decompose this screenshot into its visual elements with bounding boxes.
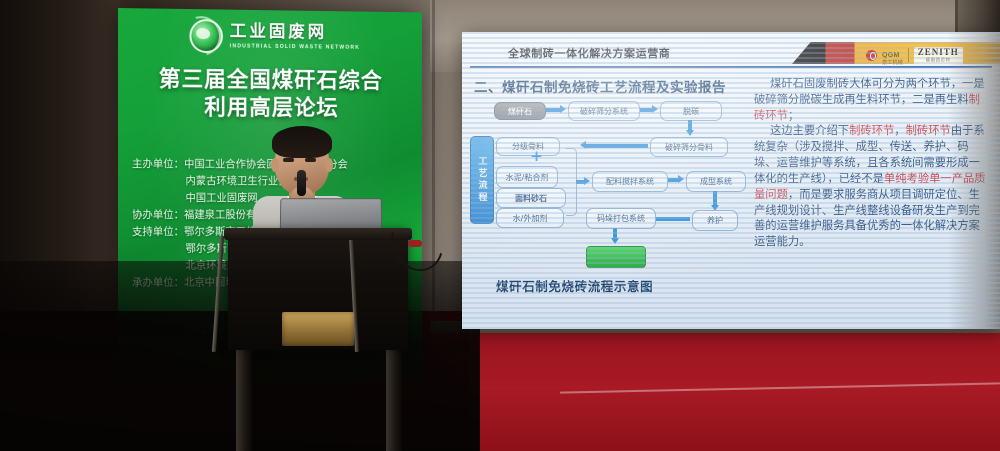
flow-node-crushing-screening: 破碎筛分系统 xyxy=(568,101,640,121)
conference-photo: 工业固废网 INDUSTRIAL SOLID WASTE NETWORK 第三届… xyxy=(0,0,1000,451)
qgm-name: QGM xyxy=(882,52,900,59)
qgm-name-cn: 泉工机械 xyxy=(882,61,903,66)
microphone-icon xyxy=(297,170,306,196)
logo-divider xyxy=(908,48,909,62)
flow-arrow-head xyxy=(584,177,590,185)
presenter-eyebrow xyxy=(282,152,295,155)
flow-arrow xyxy=(640,108,652,112)
flow-node-facing-sand: 面料砂石 xyxy=(496,188,566,208)
flow-node-molding-system: 成型系统 xyxy=(686,171,746,192)
flow-node-finished-product xyxy=(586,246,646,268)
qgm-logo-icon xyxy=(866,50,877,61)
qgm-logo-text: QGM 泉工机械 xyxy=(882,44,903,66)
presenter-eyebrow xyxy=(304,152,317,155)
slide-section-title: 二、煤矸石制免烧砖工艺流程及实验报告 xyxy=(474,76,726,96)
flow-arrow xyxy=(688,120,692,130)
flow-arrow xyxy=(668,178,678,182)
slide-header: 全球制砖一体化解决方案运营商 QGM 泉工机械 ZENITH 德国西尼特 xyxy=(462,42,1000,66)
flow-arrow xyxy=(546,108,560,112)
flow-node-screened-aggregate: 破碎筛分骨料 xyxy=(650,137,728,157)
flow-arrow-head xyxy=(580,141,586,149)
flow-side-label: 工艺流程 xyxy=(470,136,494,224)
presenter-ear xyxy=(271,158,279,172)
podium-top-surface xyxy=(224,228,412,240)
flow-arrow-head xyxy=(611,238,619,244)
flow-arrow xyxy=(586,144,648,148)
flow-arrow-head xyxy=(678,175,684,183)
screen-edge-shading xyxy=(948,32,1000,329)
presenter-ear xyxy=(325,158,333,172)
slide-header-title: 全球制砖一体化解决方案运营商 xyxy=(508,45,670,61)
flow-arrow xyxy=(713,191,717,205)
flow-arrow xyxy=(576,180,584,184)
header-divider-rule xyxy=(470,66,992,68)
flow-plus-icon: + xyxy=(530,150,543,163)
flow-diagram-caption: 煤矸石制免烧砖流程示意图 xyxy=(496,276,653,295)
logo-chinese-text: 工业固废网 xyxy=(230,24,360,42)
flow-arrow xyxy=(654,217,690,221)
flow-node-water-admixture: 水/外加剂 xyxy=(496,208,564,228)
podium-nameplate xyxy=(282,312,354,346)
flow-node-raw-material: 煤矸石 xyxy=(494,102,546,120)
flow-arrow-head xyxy=(652,105,658,113)
flow-arrow-head xyxy=(686,130,694,136)
presenter-eye xyxy=(283,158,294,162)
banner-title: 第三届全国煤矸石综合 利用高层论坛 xyxy=(118,66,422,124)
projection-screen: 全球制砖一体化解决方案运营商 QGM 泉工机械 ZENITH 德国西尼特 二、煤… xyxy=(462,32,1000,329)
presenter-eye xyxy=(305,158,316,162)
process-flow-diagram: 工艺流程 煤矸石 破碎筛分系统 脱碳 破碎筛分骨料 分级骨料 + 水泥/粘合剂 … xyxy=(468,100,750,270)
presenter-hair xyxy=(272,126,332,158)
flow-node-cement-binder: 水泥/粘合剂 xyxy=(496,166,558,188)
cable-connector xyxy=(408,240,422,247)
banner-title-line1: 第三届全国煤矸石综合 xyxy=(118,66,422,97)
flow-arrow xyxy=(613,228,617,238)
flow-node-curing: 养护 xyxy=(692,210,738,231)
logo-english-text: INDUSTRIAL SOLID WASTE NETWORK xyxy=(230,43,360,50)
flow-node-graded-aggregate: 分级骨料 xyxy=(496,137,560,156)
banner-title-line2: 利用高层论坛 xyxy=(118,94,422,124)
flow-node-stacking-packing: 码垛打包系统 xyxy=(586,208,656,229)
flow-arrow-head xyxy=(560,105,566,113)
flow-node-batching-mixing: 配料搅拌系统 xyxy=(592,171,668,192)
flow-node-decarbonization: 脱碳 xyxy=(660,101,722,121)
